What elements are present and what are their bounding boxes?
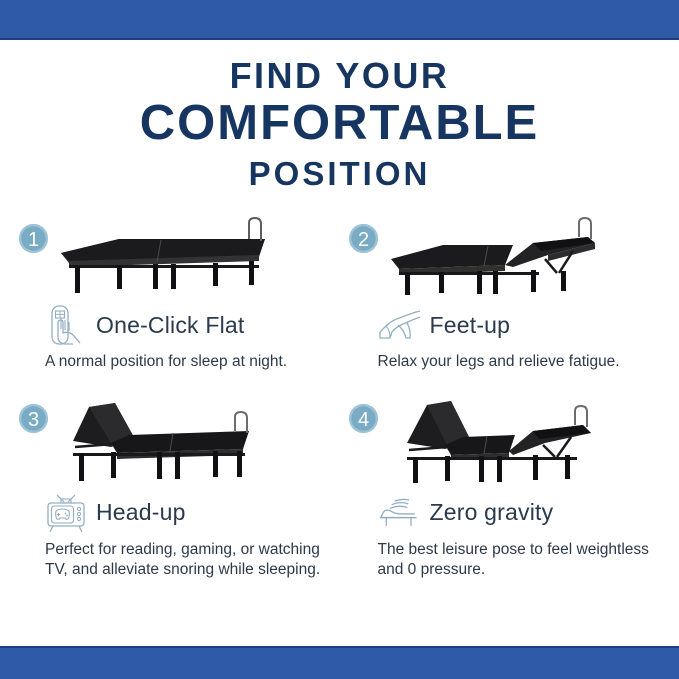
number-badge-4-icon: 4 [348,403,379,434]
panel-illustration-row: 3 [18,395,336,485]
number-badge-3-icon: 3 [18,403,49,434]
panel-zero-gravity: 4 [344,395,666,581]
label-zero-gravity: Zero gravity [430,499,554,526]
label-row-feet-up: Feet-up [348,303,666,347]
page-title: FIND YOUR COMFORTABLE POSITION [14,40,665,193]
panel-one-click-flat: 1 [14,215,336,372]
title-line-2: COMFORTABLE [14,97,665,151]
description-head-up: Perfect for reading, gaming, or watching… [18,540,336,581]
content-area: FIND YOUR COMFORTABLE POSITION 1 [0,40,679,646]
badge-number-4: 4 [357,409,368,431]
badge-number-3: 3 [28,409,39,431]
tv-gamepad-icon [44,491,88,535]
title-line-1: FIND YOUR [14,56,665,96]
number-badge-1-icon: 1 [18,223,49,254]
description-zero-gravity: The best leisure pose to feel weightless… [348,540,666,581]
label-head-up: Head-up [96,499,186,526]
position-panels-grid: 1 [14,215,665,580]
bed-feet-up-illustration-icon [379,215,666,295]
badge-number-2: 2 [357,229,368,251]
label-row-zero-gravity: Zero gravity [348,491,666,535]
label-row-head-up: Head-up [18,491,336,535]
bed-head-up-illustration-icon [49,395,336,485]
panel-feet-up: 2 [344,215,666,372]
panel-illustration-row: 4 [348,395,666,485]
bottom-blue-bar [0,646,679,679]
panel-illustration-row: 1 [18,215,336,297]
description-one-click-flat: A normal position for sleep at night. [18,352,336,372]
panel-head-up: 3 [14,395,336,581]
label-feet-up: Feet-up [430,312,511,339]
bed-zero-gravity-illustration-icon [379,395,666,485]
panel-illustration-row: 2 [348,215,666,297]
top-blue-bar [0,0,679,40]
reclined-person-waves-icon [378,491,422,535]
number-badge-2-icon: 2 [348,223,379,254]
legs-raised-icon [378,303,422,347]
bed-flat-illustration-icon [49,215,336,295]
badge-number-1: 1 [28,229,39,251]
infographic-page: FIND YOUR COMFORTABLE POSITION 1 [0,0,679,679]
title-line-3: POSITION [14,155,665,193]
remote-in-hand-icon [44,303,88,347]
label-row-one-click-flat: One-Click Flat [18,303,336,347]
label-one-click-flat: One-Click Flat [96,312,245,339]
description-feet-up: Relax your legs and relieve fatigue. [348,352,666,372]
